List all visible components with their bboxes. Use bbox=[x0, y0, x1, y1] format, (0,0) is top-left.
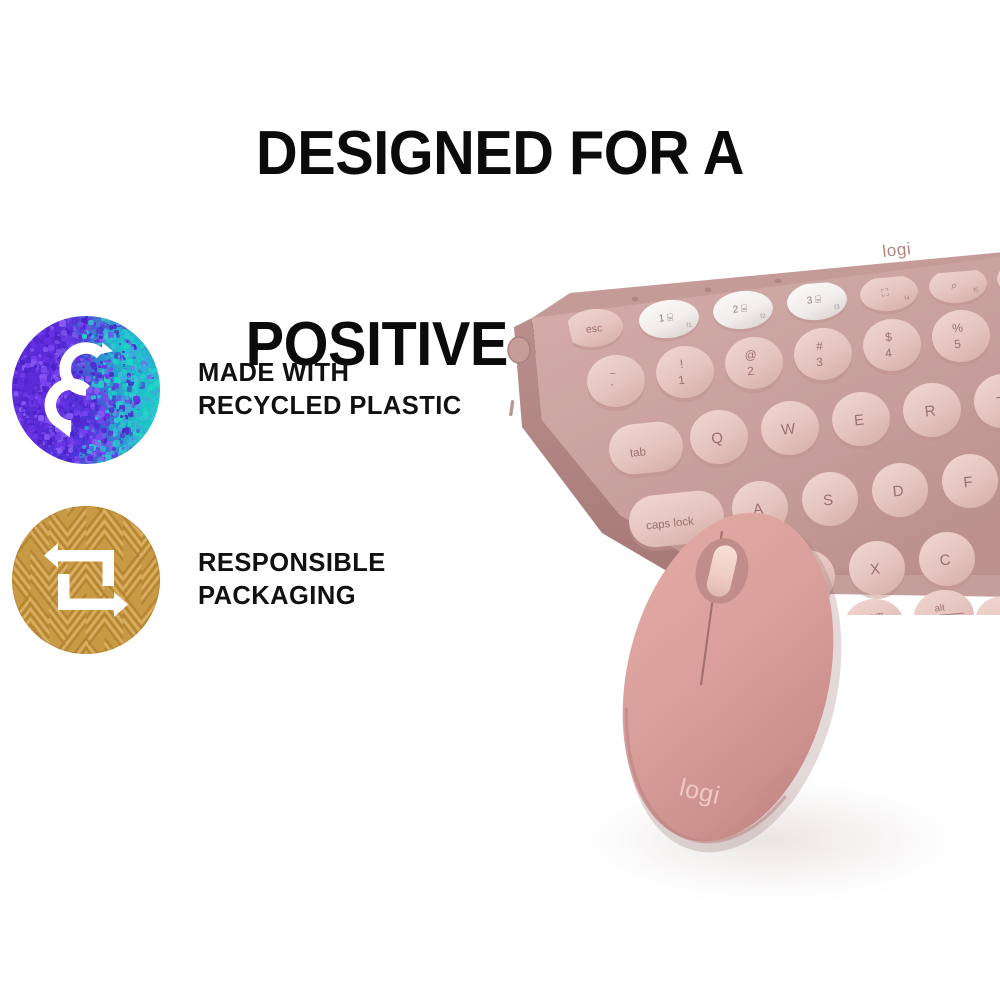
key-start-alt[interactable]: start ⊞ alt ⌥ bbox=[841, 596, 906, 658]
side-vent bbox=[509, 400, 515, 416]
svg-text:alt: alt bbox=[934, 602, 945, 614]
marketing-image: DESIGNED FOR A POSITIVE FUTURE MADE WITH… bbox=[0, 0, 1000, 981]
svg-text:Q: Q bbox=[710, 429, 723, 447]
svg-text:F: F bbox=[963, 474, 974, 492]
power-button[interactable] bbox=[508, 337, 530, 363]
svg-text:cmd ⌘: cmd ⌘ bbox=[924, 618, 955, 632]
svg-text:C: C bbox=[939, 551, 952, 569]
svg-text:1 ⌸: 1 ⌸ bbox=[658, 312, 673, 324]
svg-text:~: ~ bbox=[609, 368, 617, 381]
headline-line-1: DESIGNED FOR A bbox=[35, 122, 965, 186]
svg-text:R: R bbox=[924, 402, 937, 420]
svg-text:alt ⌥: alt ⌥ bbox=[858, 628, 881, 640]
svg-text:2 ⌸: 2 ⌸ bbox=[732, 303, 747, 315]
badge-responsible-packaging: RESPONSIBLE PACKAGING bbox=[12, 506, 386, 654]
responsible-packaging-box-loop-icon bbox=[12, 506, 160, 654]
recycle-loop-glyph bbox=[12, 316, 160, 464]
product-photo: logi esc bbox=[470, 215, 1000, 915]
key-alt-cmd[interactable]: alt cmd ⌘ bbox=[911, 587, 976, 649]
key-space[interactable] bbox=[973, 587, 1000, 653]
svg-text:%: % bbox=[952, 320, 964, 335]
svg-text:E: E bbox=[853, 412, 865, 430]
svg-text:start ⊞: start ⊞ bbox=[855, 611, 883, 624]
keyboard-logi-logo: logi bbox=[881, 239, 912, 261]
recycled-plastic-loop-icon bbox=[12, 316, 160, 464]
svg-text:tab: tab bbox=[629, 446, 646, 460]
keyboard-and-mouse-illustration: logi esc bbox=[470, 215, 1000, 915]
badge-label-responsible-packaging: RESPONSIBLE PACKAGING bbox=[198, 547, 386, 613]
svg-text:X: X bbox=[869, 561, 881, 579]
svg-text:W: W bbox=[780, 420, 797, 438]
svg-text:3 ⌸: 3 ⌸ bbox=[806, 294, 821, 306]
svg-text:esc: esc bbox=[585, 322, 603, 336]
badge-recycled-plastic: MADE WITH RECYCLED PLASTIC bbox=[12, 316, 462, 464]
svg-text:@: @ bbox=[744, 347, 758, 362]
badge-label-recycled-plastic: MADE WITH RECYCLED PLASTIC bbox=[198, 357, 462, 423]
svg-text:T: T bbox=[996, 394, 1000, 412]
box-recycle-glyph bbox=[12, 506, 160, 654]
svg-text:S: S bbox=[822, 492, 834, 510]
svg-text:D: D bbox=[892, 482, 905, 500]
